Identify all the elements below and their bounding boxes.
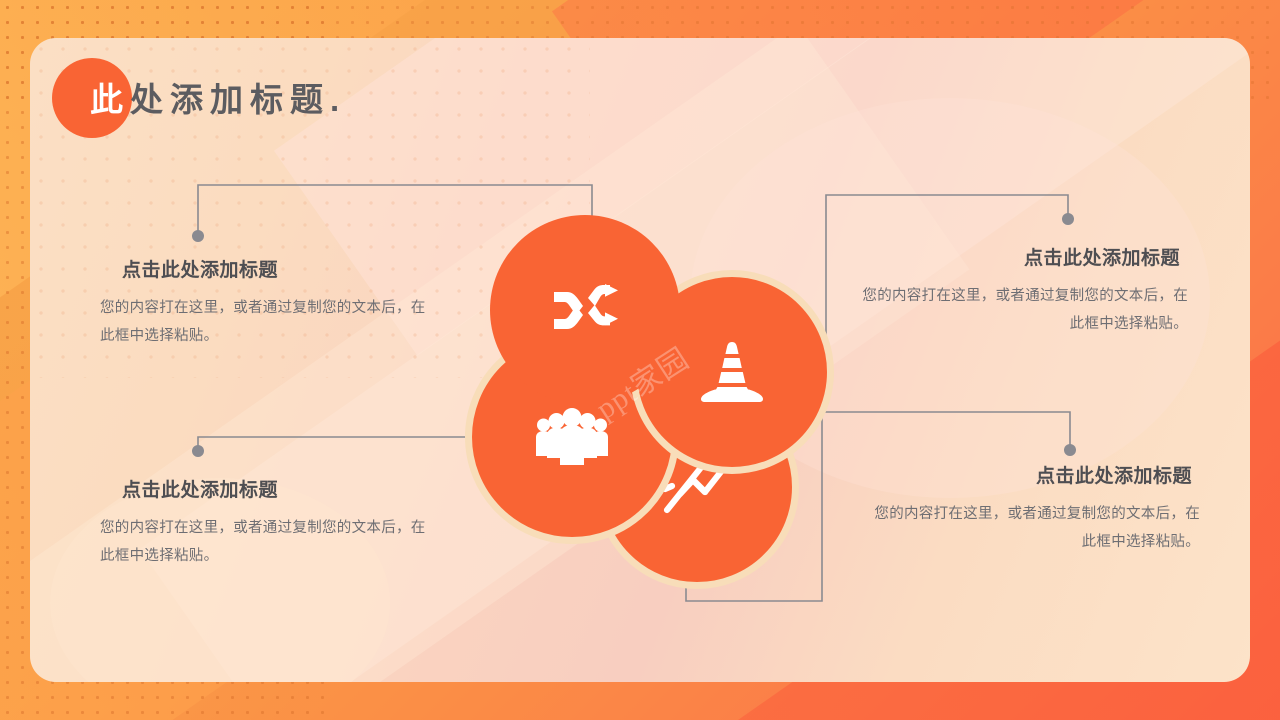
title-rest-text: 处添加标题. bbox=[130, 81, 346, 118]
text-block-bottom-right: 点击此处添加标题 您的内容打在这里，或者通过复制您的文本后，在此框中选择粘贴。 bbox=[860, 461, 1200, 557]
text-block-top-left: 点击此处添加标题 您的内容打在这里，或者通过复制您的文本后，在此框中选择粘贴。 bbox=[100, 255, 440, 351]
node-heading-top-right: 点击此处添加标题 bbox=[848, 243, 1188, 270]
node-heading-bottom-right: 点击此处添加标题 bbox=[860, 461, 1200, 488]
icon-circle-cluster bbox=[455, 215, 835, 585]
shuffle-icon bbox=[552, 284, 618, 336]
slide-canvas: 此处添加标题. bbox=[0, 0, 1280, 720]
text-block-top-right: 点击此处添加标题 您的内容打在这里，或者通过复制您的文本后，在此框中选择粘贴。 bbox=[848, 243, 1188, 339]
node-body-bottom-left: 您的内容打在这里，或者通过复制您的文本后，在此框中选择粘贴。 bbox=[100, 514, 440, 571]
node-circle-shuffle[interactable] bbox=[490, 215, 680, 405]
node-body-bottom-right: 您的内容打在这里，或者通过复制您的文本后，在此框中选择粘贴。 bbox=[860, 500, 1200, 557]
traffic-cone-icon bbox=[699, 341, 765, 403]
people-group-icon bbox=[535, 408, 609, 466]
node-heading-bottom-left: 点击此处添加标题 bbox=[100, 475, 440, 502]
text-block-bottom-left: 点击此处添加标题 您的内容打在这里，或者通过复制您的文本后，在此框中选择粘贴。 bbox=[100, 475, 440, 571]
node-heading-top-left: 点击此处添加标题 bbox=[100, 255, 440, 282]
node-body-top-right: 您的内容打在这里，或者通过复制您的文本后，在此框中选择粘贴。 bbox=[848, 282, 1188, 339]
title-text: 此处添加标题. bbox=[90, 60, 346, 140]
node-body-top-left: 您的内容打在这里，或者通过复制您的文本后，在此框中选择粘贴。 bbox=[100, 294, 440, 351]
title-lead-char: 此 bbox=[90, 81, 130, 118]
page-title: 此处添加标题. bbox=[52, 58, 346, 142]
